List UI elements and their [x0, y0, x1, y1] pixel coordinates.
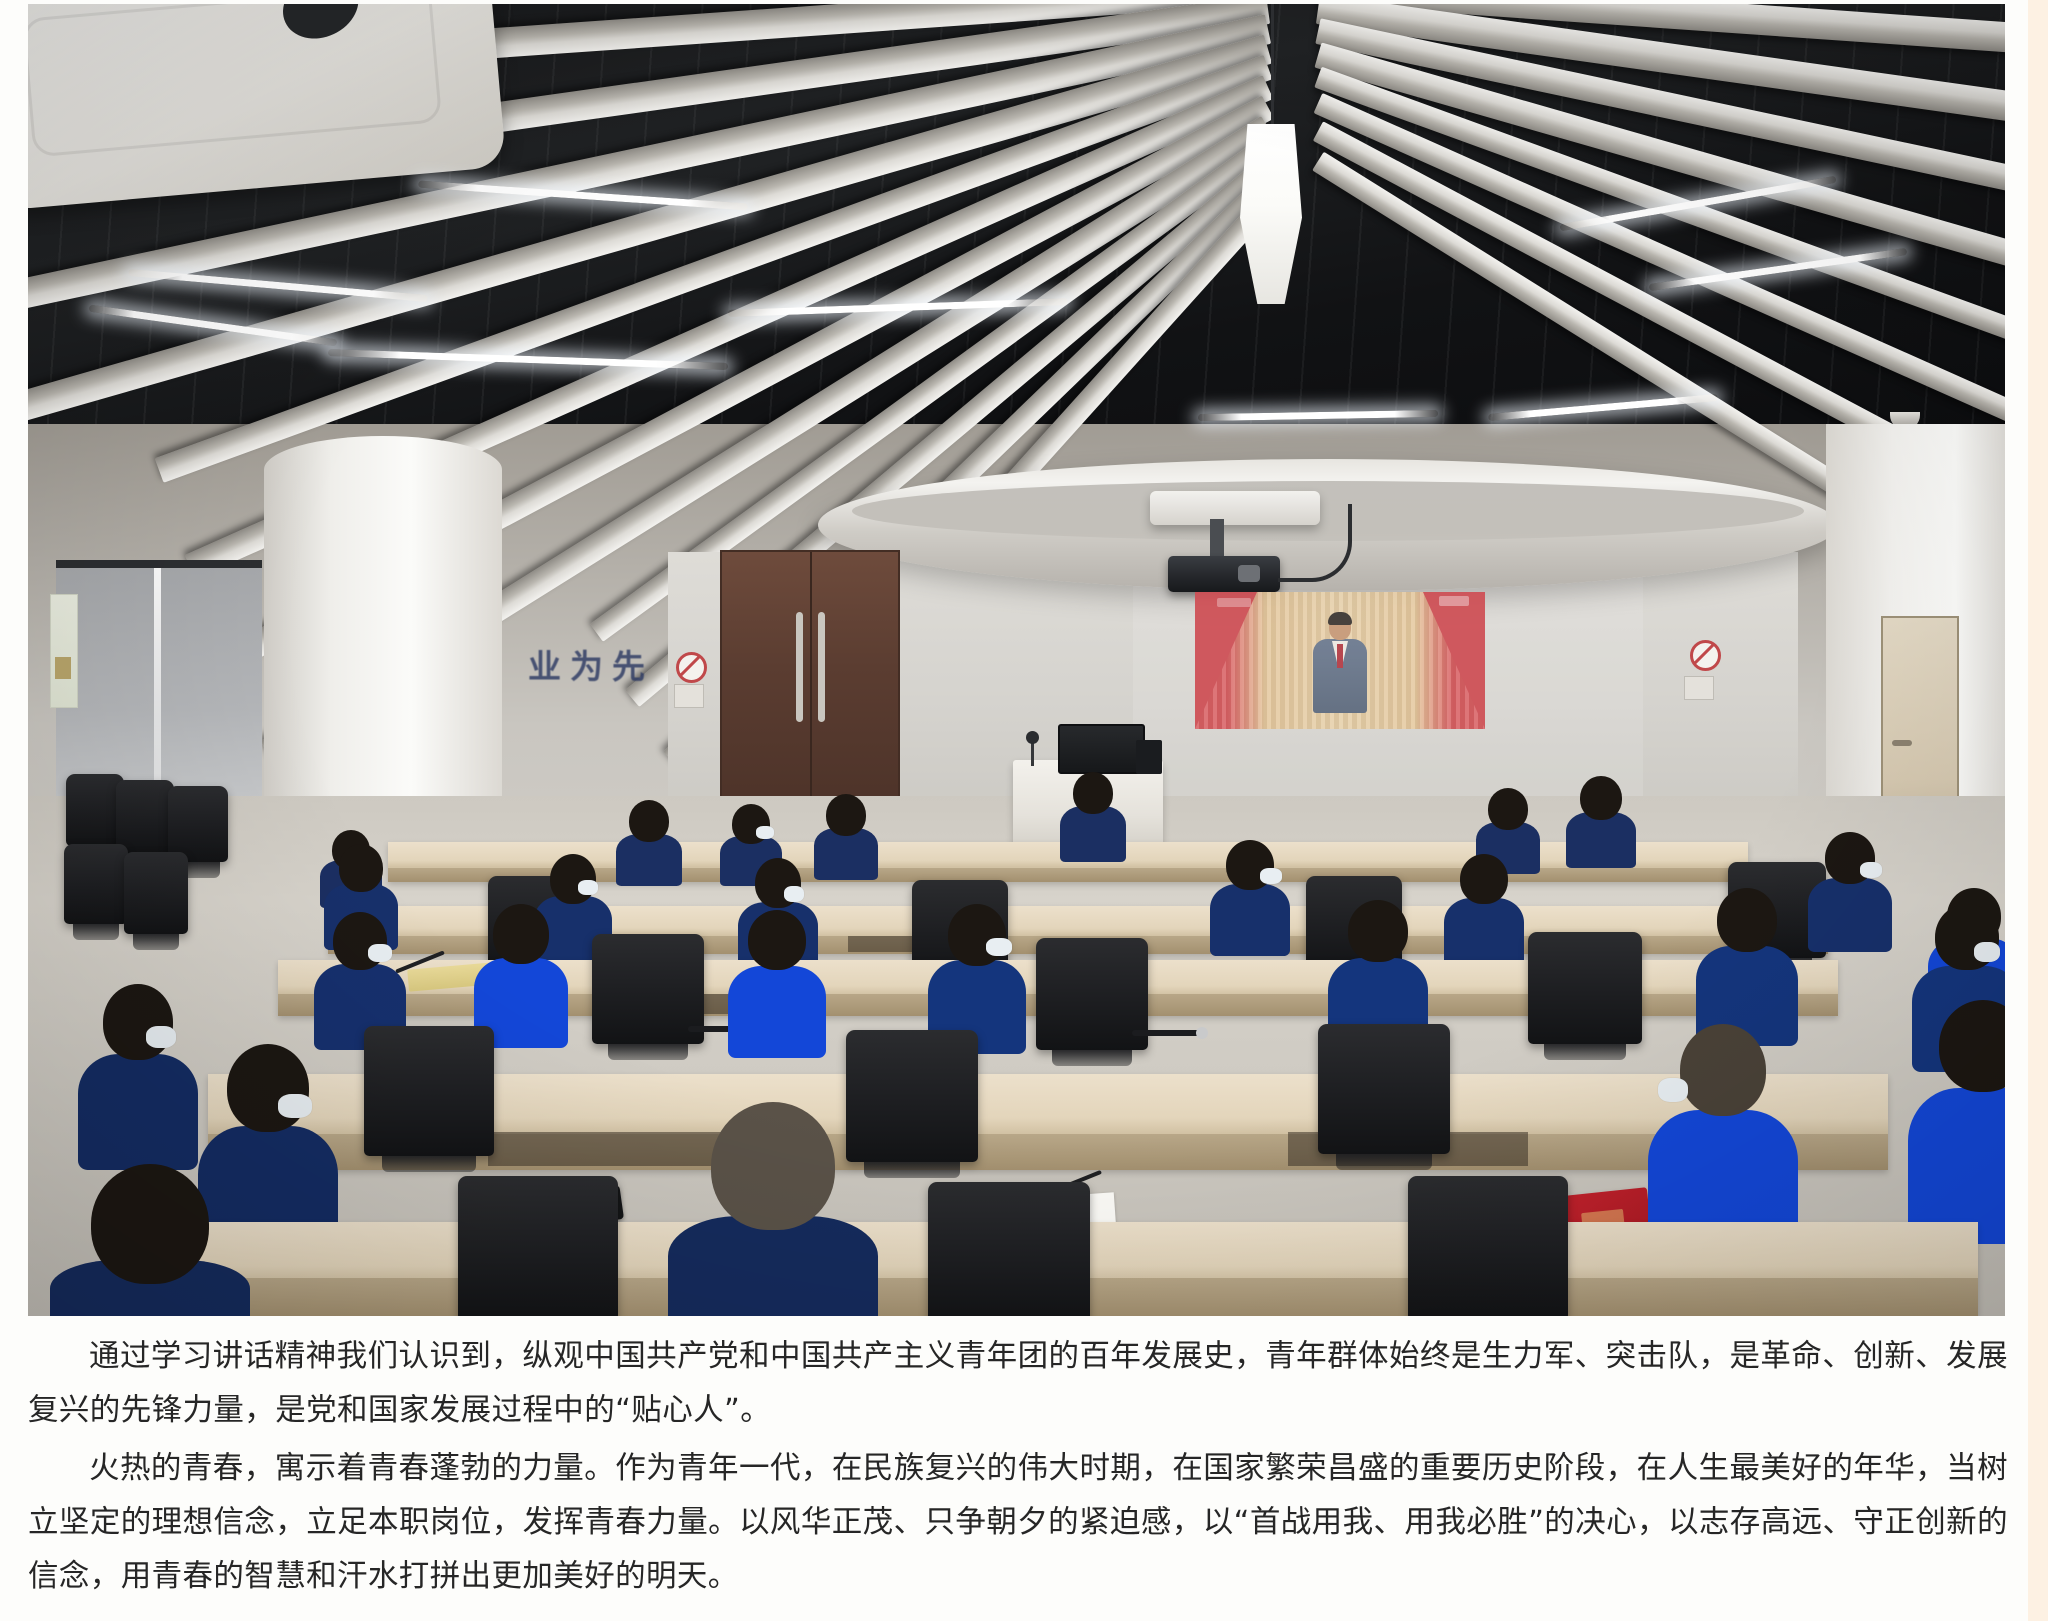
- empty-chair: [928, 1182, 1090, 1316]
- attendee: [1696, 888, 1798, 1042]
- attendee-uniform: [668, 1216, 878, 1316]
- photo-scene: 业为先: [28, 4, 2005, 1316]
- door-split-line: [810, 552, 812, 808]
- attendee-uniform: [728, 966, 826, 1058]
- attendee-head: [339, 844, 383, 892]
- attendee-head: [1488, 788, 1528, 830]
- wooden-double-doors: [720, 550, 900, 810]
- broadcast-logo-left: [1217, 598, 1251, 607]
- attendee-head: [748, 910, 806, 970]
- empty-chair: [1408, 1176, 1568, 1316]
- attendee-head: [1717, 888, 1777, 952]
- attendee-head: [1580, 776, 1622, 820]
- attendee: [1210, 840, 1290, 954]
- attendee-head: [629, 800, 669, 842]
- article-paragraph-1: 通过学习讲话精神我们认识到，纵观中国共产党和中国共产主义青年团的百年发展史，青年…: [28, 1330, 2008, 1439]
- wall-sign-plate: [1684, 676, 1714, 700]
- pendant-cord: [1271, 4, 1274, 132]
- speaker-figure: [1312, 614, 1368, 714]
- attendee-head: [826, 794, 866, 836]
- broadcast-logo-right: [1439, 596, 1469, 606]
- microphone-icon: [1031, 740, 1034, 766]
- no-smoking-icon: [1690, 640, 1721, 671]
- attendee-head: [1073, 772, 1113, 814]
- lectern-side-monitor: [1136, 740, 1162, 774]
- attendee-front: [668, 1102, 878, 1316]
- attendee-head: [103, 984, 173, 1060]
- attendee: [1566, 776, 1636, 866]
- chair-armrest: [1132, 1030, 1204, 1036]
- wall-poster: [50, 594, 78, 708]
- attendee: [728, 910, 826, 1054]
- red-drape-right: [1423, 592, 1485, 729]
- face-mask-icon: [1860, 862, 1882, 878]
- face-mask-icon: [1974, 942, 2000, 962]
- empty-chair: [64, 844, 128, 924]
- projected-video-frame: [1195, 592, 1485, 729]
- attendee-uniform: [1808, 878, 1892, 952]
- document-page: 业为先: [0, 0, 2048, 1621]
- attendee-head: [550, 854, 596, 904]
- attendee: [1444, 854, 1524, 968]
- no-smoking-icon: [676, 652, 707, 683]
- attendee-uniform: [1908, 1088, 2005, 1244]
- attendee-uniform: [1566, 812, 1636, 868]
- attendee-head: [1680, 1024, 1766, 1116]
- duct-opening: [272, 4, 369, 51]
- attendee: [78, 984, 198, 1164]
- face-mask-icon: [756, 826, 774, 839]
- attendee-uniform: [78, 1054, 198, 1170]
- attendee: [1808, 832, 1892, 950]
- face-mask-icon: [278, 1094, 312, 1118]
- wall-sign-plate: [674, 684, 704, 708]
- face-mask-icon: [1260, 868, 1282, 884]
- article-paragraph-2: 火热的青春，寓示着青春蓬勃的力量。作为青年一代，在民族复兴的伟大时期，在国家繁荣…: [28, 1442, 2008, 1605]
- attendee-head: [711, 1102, 835, 1230]
- attendee-head: [493, 904, 549, 964]
- attendee-head: [91, 1164, 209, 1284]
- attendee-front: [50, 1164, 250, 1316]
- empty-chair: [1318, 1024, 1450, 1154]
- face-mask-icon: [986, 938, 1012, 956]
- article-body: 通过学习讲话精神我们认识到，纵观中国共产党和中国共产主义青年团的百年发展史，青年…: [28, 1330, 2008, 1607]
- attendee-uniform: [1060, 806, 1126, 862]
- article-photo: 业为先: [28, 4, 2005, 1316]
- page-edge-strip: [2028, 0, 2048, 1621]
- attendee: [1060, 772, 1126, 860]
- attendee: [1648, 1024, 1798, 1254]
- face-mask-icon: [146, 1026, 176, 1048]
- speaker-hair: [1328, 612, 1352, 625]
- empty-chair: [458, 1176, 618, 1316]
- empty-chair: [168, 786, 228, 862]
- attendee: [928, 904, 1026, 1050]
- attendee-head: [948, 904, 1006, 966]
- attendee-head: [1348, 900, 1408, 962]
- face-mask-icon: [578, 880, 598, 895]
- attendee-uniform: [1210, 884, 1290, 956]
- empty-chair: [1528, 932, 1642, 1044]
- attendee: [616, 800, 682, 884]
- attendee-head: [227, 1044, 309, 1132]
- red-drape-left: [1195, 592, 1257, 729]
- empty-chair: [364, 1026, 494, 1156]
- face-mask-icon: [784, 886, 804, 902]
- lectern-monitor: [1058, 724, 1145, 774]
- attendee-head: [1460, 854, 1508, 904]
- attendee: [814, 794, 878, 878]
- ceiling-projector-icon: [1168, 556, 1280, 592]
- face-mask-icon: [368, 944, 392, 962]
- attendee: [1908, 1000, 2005, 1240]
- attendee-head: [1939, 1000, 2005, 1092]
- window-with-blind: [56, 560, 262, 804]
- face-mask-icon: [1658, 1078, 1688, 1102]
- wall-slogan-text: 业为先: [528, 640, 654, 688]
- attendee: [474, 904, 568, 1044]
- empty-chair: [124, 852, 188, 934]
- speaker-tie: [1337, 644, 1343, 668]
- empty-chair: [116, 780, 174, 854]
